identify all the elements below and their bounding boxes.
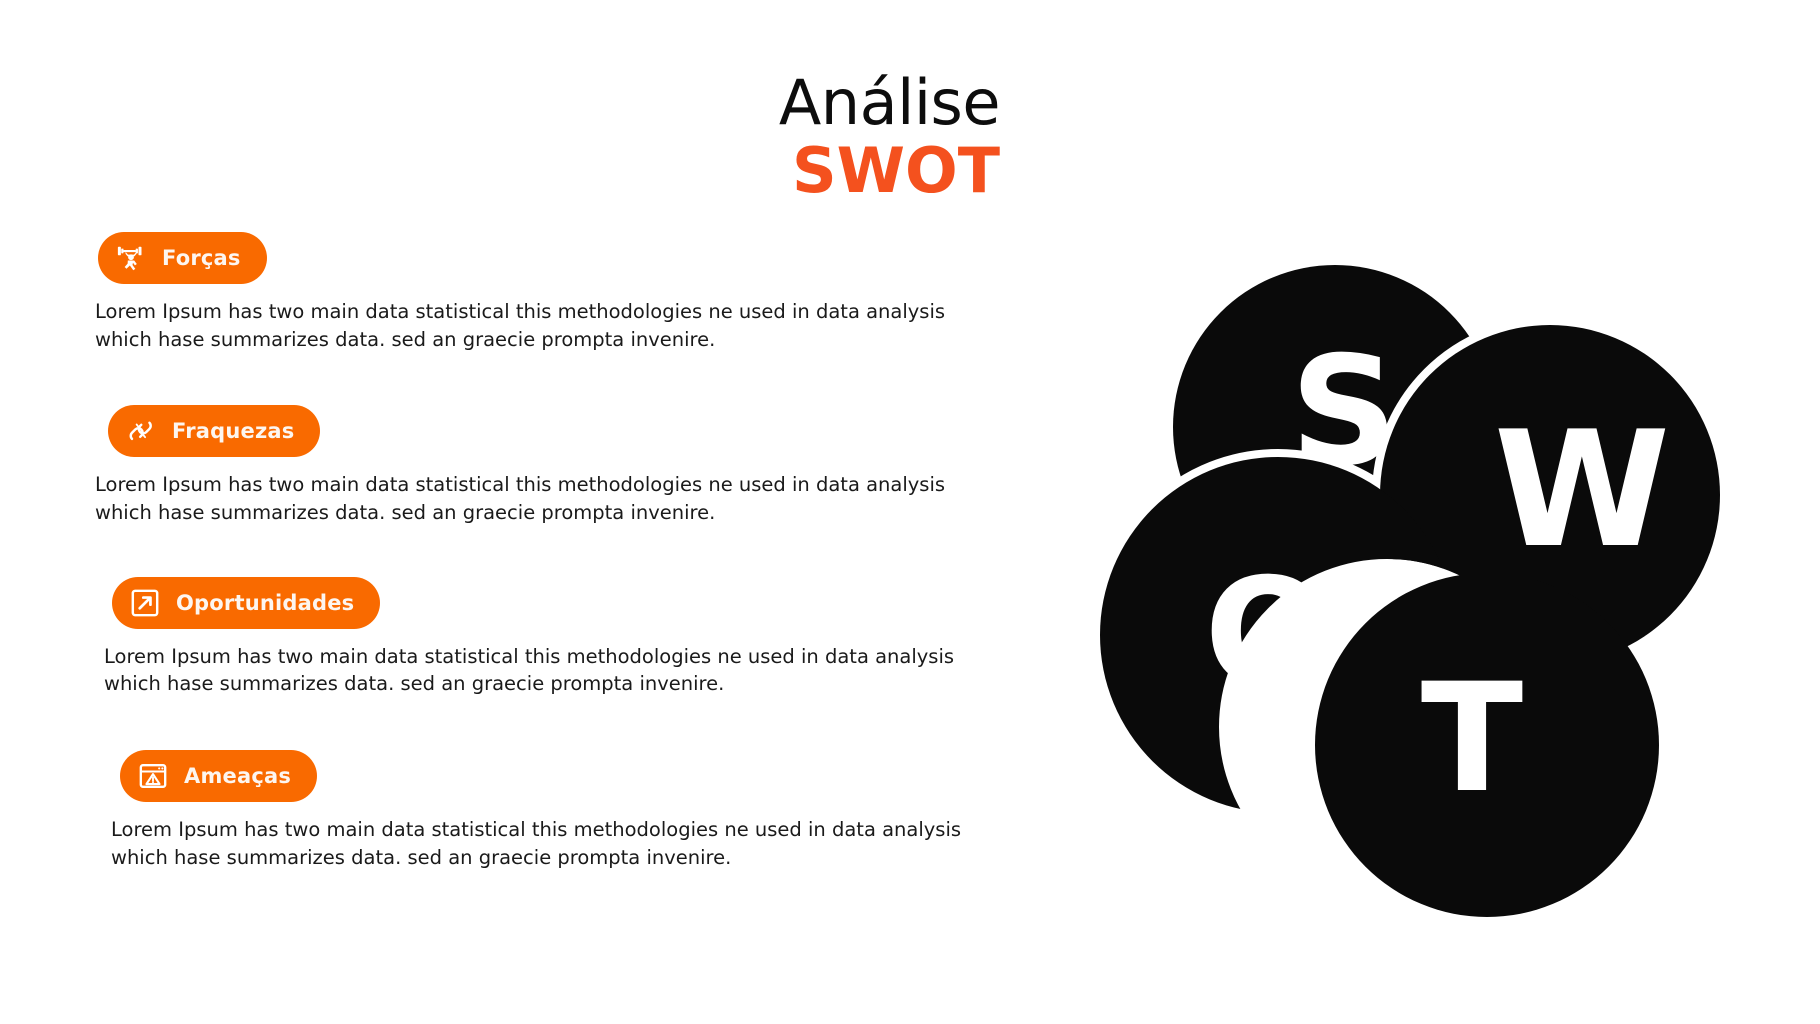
swot-body-fraquezas: Lorem Ipsum has two main data statistica… (95, 471, 1005, 526)
swot-pill-label: Forças (162, 246, 241, 270)
swot-circle-letter-t: T (1421, 652, 1523, 826)
swot-body-forcas: Lorem Ipsum has two main data statistica… (95, 298, 1005, 353)
swot-circle-letter-o: O (1204, 547, 1332, 721)
warning-browser-window-icon (138, 761, 168, 791)
swot-circle-letter-w: W (1494, 396, 1670, 583)
swot-pill-label: Fraquezas (172, 419, 294, 443)
swot-pill-fraquezas[interactable]: Fraquezas (108, 405, 320, 457)
swot-circles-diagram: S W O T (1090, 245, 1750, 925)
swot-section-oportunidades: Oportunidades Lorem Ipsum has two main d… (112, 577, 1030, 698)
slide-canvas: Análise SWOT (0, 0, 1820, 1024)
swot-section-fraquezas: Fraquezas Lorem Ipsum has two main data … (108, 405, 1030, 526)
title-line-swot: SWOT (640, 138, 1000, 203)
arrow-up-right-square-icon (130, 588, 160, 618)
weightlifter-icon (116, 243, 146, 273)
swot-pill-oportunidades[interactable]: Oportunidades (112, 577, 380, 629)
swot-pill-ameacas[interactable]: Ameaças (120, 750, 317, 802)
swot-pill-label: Ameaças (184, 764, 291, 788)
swot-body-oportunidades: Lorem Ipsum has two main data statistica… (104, 643, 1014, 698)
swot-pill-label: Oportunidades (176, 591, 354, 615)
swot-circle-t: T (1315, 573, 1659, 917)
page-title: Análise SWOT (640, 72, 1000, 203)
swot-section-ameacas: Ameaças Lorem Ipsum has two main data st… (120, 750, 1030, 871)
swot-sections-list: Forças Lorem Ipsum has two main data sta… (0, 232, 1030, 872)
broken-chain-link-icon (126, 416, 156, 446)
title-line-analise: Análise (640, 72, 1000, 134)
swot-pill-forcas[interactable]: Forças (98, 232, 267, 284)
swot-body-ameacas: Lorem Ipsum has two main data statistica… (111, 816, 1021, 871)
swot-section-forcas: Forças Lorem Ipsum has two main data sta… (98, 232, 1030, 353)
